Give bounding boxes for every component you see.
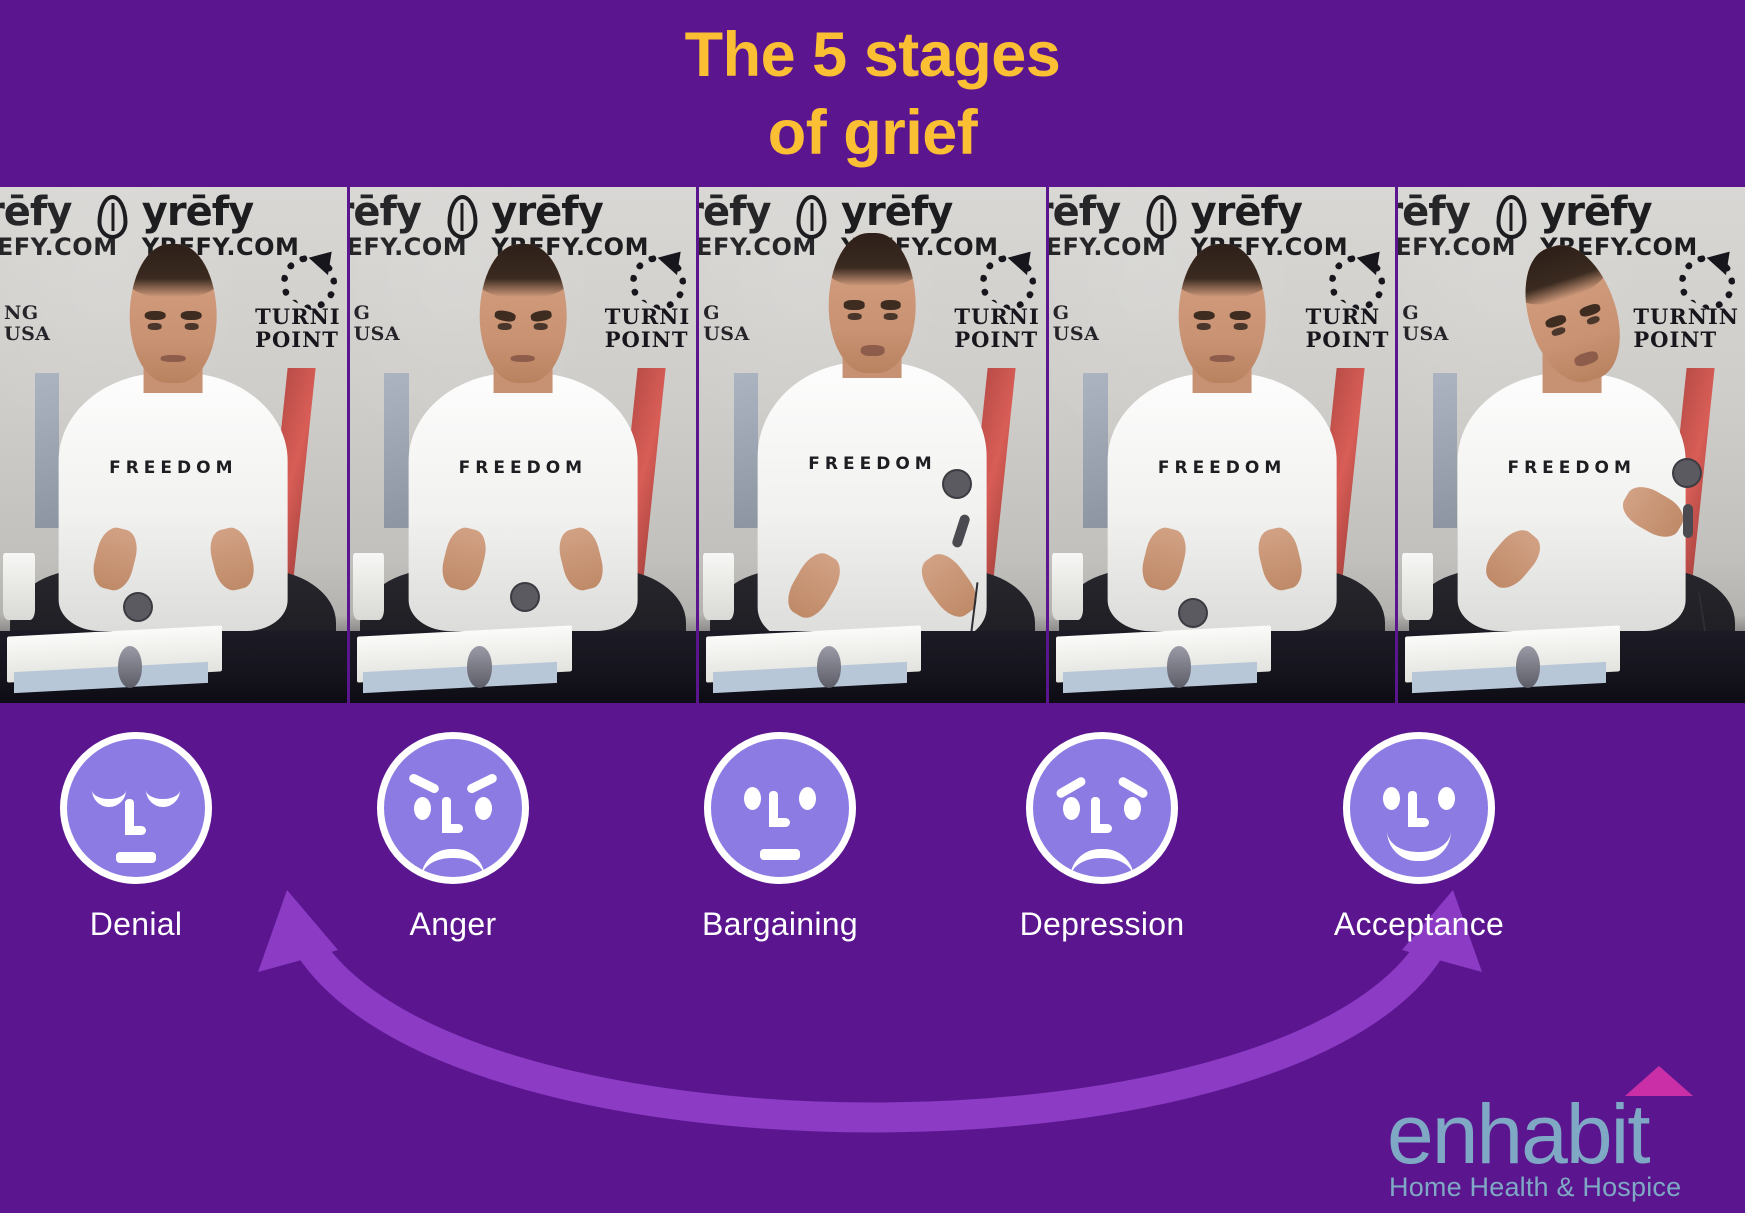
face-eye-left	[414, 797, 431, 820]
speaker-arm-left	[781, 547, 848, 624]
speaker-brow-left	[844, 300, 865, 310]
speaker-arm-right	[555, 524, 608, 593]
speaker-eye-left	[1551, 326, 1566, 337]
speaker-eye-left	[498, 323, 512, 330]
speaker-torso: FREEDOM	[1108, 373, 1337, 631]
eyes-closed-flat-mouth-face-icon	[60, 732, 212, 884]
speaker-arm-right	[1254, 524, 1307, 593]
face-nose	[125, 799, 134, 835]
speaker-brow-right	[1230, 311, 1251, 321]
binder-ring	[467, 646, 491, 687]
speaker-brow-left	[145, 311, 166, 321]
speaker-eye-right	[884, 313, 898, 320]
stage-denial[interactable]: Denial	[29, 732, 243, 943]
face-mouth	[116, 852, 156, 863]
binder-ring	[817, 646, 841, 687]
neutral-face-icon	[704, 732, 856, 884]
speaker-hair	[1509, 234, 1611, 312]
binder-ring	[118, 646, 142, 687]
stage-label-denial: Denial	[90, 906, 183, 943]
photo-frame-bargaining: yrēfy YREFY.COM yrēfy YREFY.COM TURNIPOI…	[699, 187, 1049, 703]
speaker-mouth	[161, 355, 185, 362]
face-brow-right	[1117, 776, 1149, 800]
speaker-figure: FREEDOM	[0, 187, 347, 703]
face-mouth	[421, 849, 485, 879]
microphone-icon	[1180, 600, 1206, 626]
speaker-brow-right	[181, 311, 202, 321]
speaker-eye-right	[1585, 315, 1600, 326]
speaker-hair	[480, 244, 567, 297]
speaker-figure: FREEDOM	[1049, 187, 1396, 703]
smiling-face-icon	[1343, 732, 1495, 884]
speaker-mouth	[1210, 355, 1234, 362]
enhabit-logo[interactable]: enhabit Home Health & Hospice	[1379, 1092, 1729, 1203]
face-mouth	[760, 849, 800, 860]
face-eye-right	[1124, 797, 1141, 820]
shirt-text: FREEDOM	[1158, 458, 1286, 478]
speaker-arm-left	[89, 524, 142, 593]
binder-ring	[1516, 646, 1540, 687]
title-band: The 5 stages of grief	[0, 0, 1745, 187]
face-nose	[769, 791, 778, 827]
stage-label-acceptance: Acceptance	[1334, 906, 1504, 943]
speaker-hair	[130, 244, 217, 297]
speaker-mouth	[1573, 349, 1600, 367]
photo-frame-denial: yrēfy YREFY.COM yrēfy YREFY.COM TURNIPOI…	[0, 187, 350, 703]
speaker-mouth	[860, 345, 884, 356]
face-eye-left	[1063, 797, 1080, 820]
face-eye-right	[1438, 787, 1455, 810]
speaker-brow-right	[880, 300, 901, 310]
stage-anger[interactable]: Anger	[346, 732, 560, 943]
house-roof-icon	[1625, 1066, 1693, 1096]
face-nose	[442, 797, 451, 833]
speaker-eye-left	[148, 323, 162, 330]
infographic-root: The 5 stages of grief yrēfy YREFY.COM yr…	[0, 0, 1745, 1213]
photo-strip: yrēfy YREFY.COM yrēfy YREFY.COM TURNIPOI…	[0, 187, 1745, 703]
speaker-brow-right	[530, 309, 552, 322]
speaker-figure: FREEDOM	[350, 187, 697, 703]
photo-frame-depression: yrēfy YREFY.COM yrēfy YREFY.COM TURNPOIN…	[1049, 187, 1399, 703]
microphone-body	[1683, 504, 1693, 538]
speaker-eye-right	[185, 323, 199, 330]
face-nose	[1408, 791, 1417, 827]
speaker-brow-left	[1193, 311, 1214, 321]
speaker-torso: FREEDOM	[1457, 373, 1686, 631]
speaker-eye-left	[1197, 323, 1211, 330]
speaker-torso: FREEDOM	[758, 362, 987, 641]
speaker-hair	[1179, 244, 1266, 297]
microphone-icon	[1674, 460, 1700, 486]
speaker-eye-left	[847, 313, 861, 320]
speaker-arm-left	[438, 524, 491, 593]
speaker-arm-right	[1616, 480, 1689, 545]
speaker-eye-right	[1233, 323, 1247, 330]
speaker-figure: FREEDOM	[699, 187, 1046, 703]
sad-face-icon	[1026, 732, 1178, 884]
face-mouth	[1070, 849, 1134, 879]
cup	[1402, 553, 1433, 620]
face-eye-right	[799, 787, 816, 810]
shirt-text: FREEDOM	[1507, 458, 1635, 478]
speaker-eye-right	[534, 323, 548, 330]
shirt-text: FREEDOM	[109, 458, 237, 478]
face-mouth	[1387, 831, 1451, 861]
microphone-icon	[944, 471, 970, 497]
speaker-arm-left	[1137, 524, 1190, 593]
photo-frame-anger: yrēfy YREFY.COM yrēfy YREFY.COM TURNIPOI…	[350, 187, 700, 703]
face-eye-right	[146, 789, 180, 807]
face-eye-left	[1383, 787, 1400, 810]
enhabit-wordmark: enhabit	[1379, 1092, 1729, 1176]
speaker-head	[130, 244, 217, 383]
face-nose	[1091, 797, 1100, 833]
stage-label-bargaining: Bargaining	[702, 906, 858, 943]
face-brow-left	[408, 772, 441, 794]
face-brow-left	[1055, 776, 1087, 800]
face-brow-right	[466, 772, 499, 794]
cup	[3, 553, 34, 620]
shirt-text: FREEDOM	[459, 458, 587, 478]
angry-face-icon	[377, 732, 529, 884]
speaker-head	[1179, 244, 1266, 383]
speaker-figure: FREEDOM	[1398, 187, 1745, 703]
speaker-hair	[829, 233, 916, 286]
speaker-torso: FREEDOM	[59, 373, 288, 631]
cup	[703, 553, 734, 620]
stage-depression[interactable]: Depression	[995, 732, 1209, 943]
binder-ring	[1167, 646, 1191, 687]
shirt-text: FREEDOM	[808, 454, 936, 474]
speaker-head	[480, 244, 567, 383]
page-title-line-2: of grief	[768, 94, 978, 172]
stage-label-anger: Anger	[410, 906, 497, 943]
speaker-mouth	[511, 355, 535, 362]
cup	[1052, 553, 1083, 620]
speaker-arm-right	[205, 524, 258, 593]
cup	[353, 553, 384, 620]
stage-acceptance[interactable]: Acceptance	[1312, 732, 1526, 943]
face-eye-left	[92, 789, 126, 807]
speaker-head	[829, 233, 916, 372]
stage-label-depression: Depression	[1020, 906, 1185, 943]
speaker-brow-left	[494, 309, 516, 322]
face-eye-right	[475, 797, 492, 820]
photo-frame-acceptance: yrēfy YREFY.COM yrēfy YREFY.COM TURNINPO…	[1398, 187, 1745, 703]
speaker-arm-left	[1479, 522, 1549, 594]
face-eye-left	[744, 787, 761, 810]
speaker-head	[1509, 234, 1634, 393]
stage-bargaining[interactable]: Bargaining	[673, 732, 887, 943]
page-title-line-1: The 5 stages	[685, 16, 1061, 94]
enhabit-wordmark-text: enhabit	[1387, 1087, 1649, 1181]
